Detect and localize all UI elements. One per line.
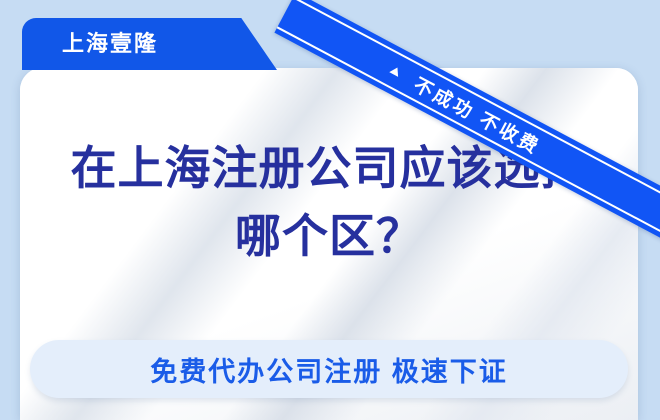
headline-line-2: 哪个区？ [36,202,622,270]
promo-poster: 上海壹隆 在上海注册公司应该选择 哪个区？ 免费代办公司注册 极速下证 不成功 … [0,0,660,420]
triangle-up-icon [389,65,402,77]
brand-tab-inner: 上海壹隆 [22,18,277,70]
brand-tab-label: 上海壹隆 [22,18,158,70]
content-card: 在上海注册公司应该选择 哪个区？ 免费代办公司注册 极速下证 [20,68,638,420]
footer-cta-pill[interactable]: 免费代办公司注册 极速下证 [30,340,628,398]
brand-tab[interactable]: 上海壹隆 [22,18,277,70]
footer-cta-label: 免费代办公司注册 极速下证 [150,350,508,389]
